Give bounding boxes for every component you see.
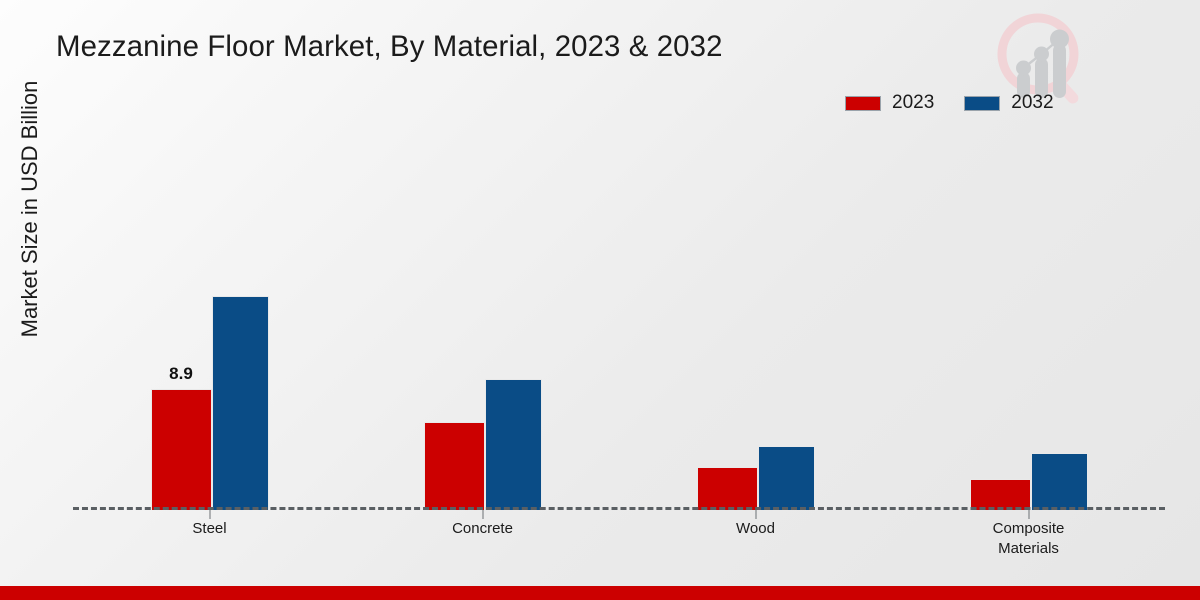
chart-canvas: Mezzanine Floor Market, By Material, 202…: [0, 0, 1200, 600]
bar-pair: [970, 130, 1088, 510]
bar-pair: [424, 130, 542, 510]
bar-wood-2032[interactable]: [758, 446, 815, 510]
bar-group-concrete: Concrete: [346, 130, 619, 510]
bar-pair: [697, 130, 815, 510]
legend-item-2023[interactable]: 2023: [845, 92, 934, 114]
y-axis-title: Market Size in USD Billion: [17, 39, 43, 379]
bar-composite-materials-2023[interactable]: [970, 479, 1031, 510]
bar-group-composite-materials: Composite Materials: [892, 130, 1165, 510]
plot-area: 8.9 Steel Concrete: [73, 130, 1165, 510]
footer-stripe: [0, 586, 1200, 600]
x-axis-label-wood: Wood: [736, 519, 775, 539]
axis-tick: [1028, 510, 1029, 519]
x-axis-label-concrete: Concrete: [452, 519, 513, 539]
axis-tick: [755, 510, 756, 519]
bar-group-wood: Wood: [619, 130, 892, 510]
bar-groups: 8.9 Steel Concrete: [73, 130, 1165, 510]
x-axis-label-composite-materials: Composite Materials: [993, 519, 1065, 559]
bar-steel-2023[interactable]: [151, 389, 212, 510]
chart-legend: 2023 2032: [845, 92, 1054, 114]
bar-pair: 8.9: [151, 130, 269, 510]
bar-wrap-2023: [697, 130, 758, 510]
legend-label-2032: 2032: [1011, 92, 1053, 114]
legend-swatch-red-icon: [845, 96, 881, 111]
bar-value-label-steel-2023: 8.9: [169, 364, 193, 384]
bar-steel-2032[interactable]: [212, 296, 269, 510]
bar-composite-materials-2032[interactable]: [1031, 453, 1088, 510]
bar-wrap-2023: [970, 130, 1031, 510]
axis-tick: [482, 510, 483, 519]
bar-group-steel: 8.9 Steel: [73, 130, 346, 510]
legend-item-2032[interactable]: 2032: [964, 92, 1053, 114]
bar-wood-2023[interactable]: [697, 467, 758, 510]
bar-concrete-2023[interactable]: [424, 422, 485, 510]
bar-wrap-2023: 8.9: [151, 130, 212, 510]
x-axis-baseline: [73, 507, 1165, 510]
x-axis-label-steel: Steel: [192, 519, 226, 539]
legend-label-2023: 2023: [892, 92, 934, 114]
axis-tick: [209, 510, 210, 519]
legend-swatch-blue-icon: [964, 96, 1000, 111]
page-title: Mezzanine Floor Market, By Material, 202…: [56, 30, 938, 64]
bar-concrete-2032[interactable]: [485, 379, 542, 510]
bar-wrap-2023: [424, 130, 485, 510]
